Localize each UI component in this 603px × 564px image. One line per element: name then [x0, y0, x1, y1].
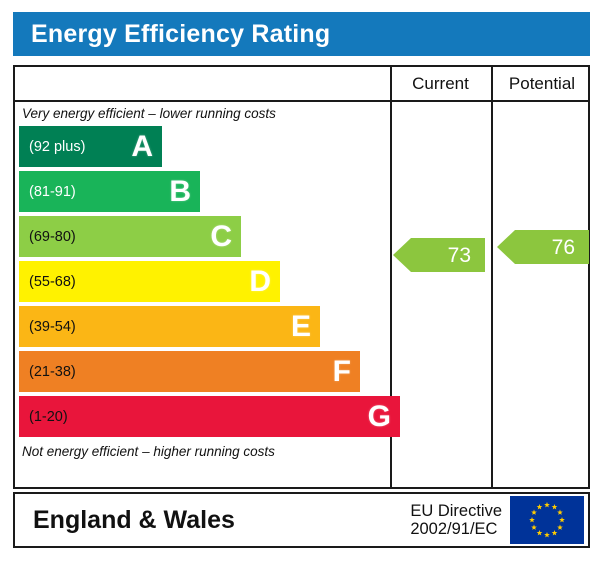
column-header-potential: Potential	[492, 67, 592, 100]
band-range-label: (55-68)	[19, 274, 76, 290]
band-letter-a: A	[131, 132, 153, 162]
band-range-label: (1-20)	[19, 409, 68, 425]
band-letter-f: F	[333, 357, 351, 387]
band-range-label: (92 plus)	[19, 139, 85, 155]
potential-rating-value: 76	[552, 237, 589, 258]
eu-directive-line-2: 2002/91/EC	[410, 520, 502, 538]
band-range-label: (39-54)	[19, 319, 76, 335]
band-letter-b: B	[169, 177, 191, 207]
band-row: (55-68)D	[15, 259, 390, 304]
band-bar-a: (92 plus)A	[19, 126, 162, 167]
band-bar-b: (81-91)B	[19, 171, 200, 212]
eu-flag-stars	[510, 496, 584, 544]
band-range-label: (81-91)	[19, 184, 76, 200]
band-row: (69-80)C	[15, 214, 390, 259]
top-caption: Very energy efficient – lower running co…	[15, 102, 390, 124]
band-row: (81-91)B	[15, 169, 390, 214]
band-bar-g: (1-20)G	[19, 396, 400, 437]
rating-arrow-icon: 76	[497, 230, 589, 264]
band-row: (92 plus)A	[15, 124, 390, 169]
eu-directive-label: EU Directive 2002/91/EC	[410, 502, 510, 539]
band-letter-d: D	[249, 267, 271, 297]
chart-title-bar: Energy Efficiency Rating	[13, 12, 590, 56]
band-bar-e: (39-54)E	[19, 306, 320, 347]
page-title: Energy Efficiency Rating	[13, 20, 330, 49]
band-row: (39-54)E	[15, 304, 390, 349]
band-bar-c: (69-80)C	[19, 216, 241, 257]
certificate-footer: England & Wales EU Directive 2002/91/EC	[13, 492, 590, 548]
rating-table: Current Potential Very energy efficient …	[13, 65, 590, 489]
rating-arrow-icon: 73	[393, 238, 485, 272]
band-row: (1-20)G	[15, 394, 390, 439]
eu-flag-icon	[510, 496, 584, 544]
band-bar-f: (21-38)F	[19, 351, 360, 392]
band-letter-g: G	[368, 402, 391, 432]
band-range-label: (21-38)	[19, 364, 76, 380]
band-letter-e: E	[291, 312, 311, 342]
band-bar-d: (55-68)D	[19, 261, 280, 302]
band-letter-c: C	[210, 222, 232, 252]
eu-directive-line-1: EU Directive	[410, 502, 502, 520]
bottom-caption: Not energy efficient – higher running co…	[15, 439, 390, 463]
column-divider-2	[491, 67, 493, 487]
band-list: Very energy efficient – lower running co…	[15, 102, 390, 487]
column-header-current: Current	[391, 67, 490, 100]
region-label: England & Wales	[15, 506, 235, 535]
current-rating-value: 73	[448, 245, 485, 266]
table-header-row: Current Potential	[15, 67, 588, 102]
energy-efficiency-certificate: Energy Efficiency Rating Current Potenti…	[0, 0, 603, 564]
band-range-label: (69-80)	[19, 229, 76, 245]
potential-rating-marker: 76	[497, 230, 589, 264]
band-row: (21-38)F	[15, 349, 390, 394]
current-rating-marker: 73	[393, 238, 485, 272]
